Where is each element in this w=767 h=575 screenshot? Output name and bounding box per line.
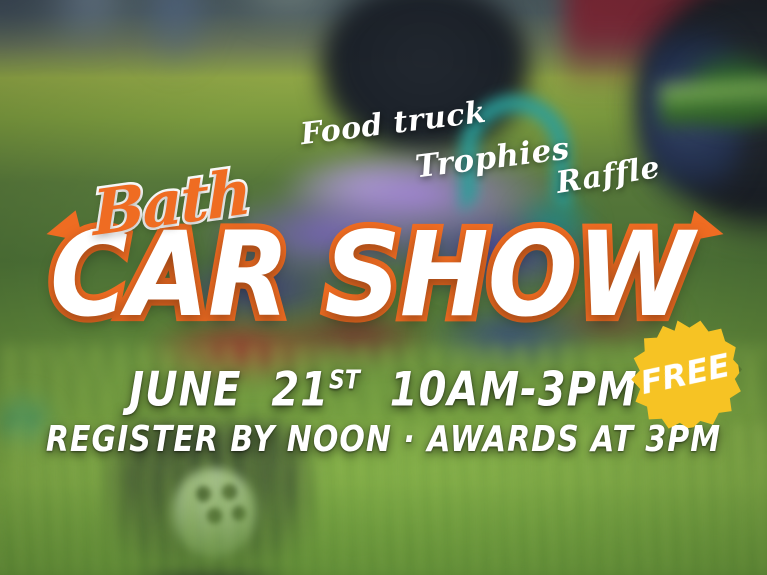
date-suffix: ST (329, 366, 360, 396)
date-spacer-2 (375, 363, 390, 417)
date-day: 21 (271, 363, 329, 417)
car-show-flyer: Food truck Trophies Raffle Bath CAR SHOW… (0, 0, 767, 575)
free-badge-label: FREE (637, 346, 733, 402)
date-time: 10AM-3PM (390, 363, 638, 417)
registration-line: REGISTER BY NOON · AWARDS AT 3PM (0, 419, 767, 460)
feature-trophies: Trophies (413, 131, 571, 186)
date-spacer (256, 363, 271, 417)
date-month: JUNE (129, 363, 241, 417)
